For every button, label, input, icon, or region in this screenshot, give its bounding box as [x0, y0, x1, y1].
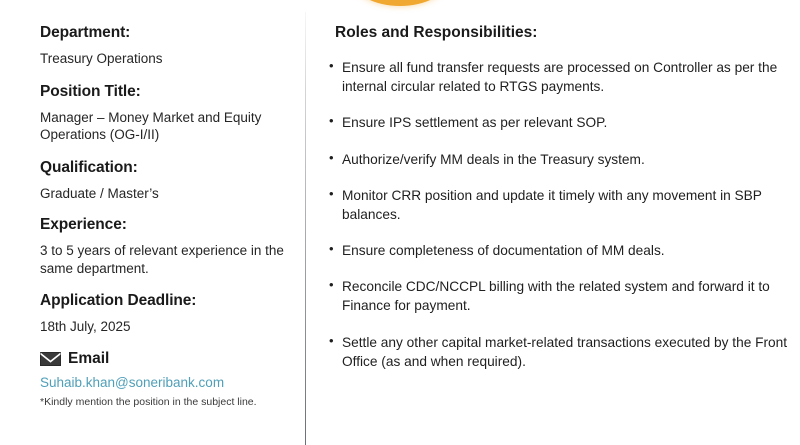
roles-responsibilities-column: Roles and Responsibilities: Ensure all f… [305, 0, 800, 388]
field-label-qualification: Qualification: [40, 159, 291, 177]
role-item: Ensure IPS settlement as per relevant SO… [329, 113, 794, 132]
field-label-department: Department: [40, 24, 291, 42]
field-experience: Experience: 3 to 5 years of relevant exp… [40, 216, 291, 277]
role-item: Settle any other capital market-related … [329, 333, 794, 371]
roles-list: Ensure all fund transfer requests are pr… [329, 58, 794, 371]
field-value-application-deadline: 18th July, 2025 [40, 318, 291, 336]
column-divider [305, 12, 306, 445]
role-item: Reconcile CDC/NCCPL billing with the rel… [329, 277, 794, 315]
field-value-department: Treasury Operations [40, 50, 291, 68]
email-heading-label: Email [68, 350, 109, 368]
field-label-experience: Experience: [40, 216, 291, 234]
field-value-experience: 3 to 5 years of relevant experience in t… [40, 242, 291, 277]
role-item: Ensure completeness of documentation of … [329, 241, 794, 260]
field-label-position-title: Position Title: [40, 83, 291, 101]
role-item: Ensure all fund transfer requests are pr… [329, 58, 794, 96]
field-value-position-title: Manager – Money Market and Equity Operat… [40, 109, 291, 144]
job-posting-page: Department: Treasury Operations Position… [0, 0, 800, 445]
email-subject-note: *Kindly mention the position in the subj… [40, 396, 291, 409]
field-position-title: Position Title: Manager – Money Market a… [40, 83, 291, 144]
envelope-icon [40, 352, 61, 366]
field-qualification: Qualification: Graduate / Master’s [40, 159, 291, 203]
job-details-column: Department: Treasury Operations Position… [0, 0, 305, 419]
role-item: Authorize/verify MM deals in the Treasur… [329, 150, 794, 169]
field-application-deadline: Application Deadline: 18th July, 2025 [40, 292, 291, 336]
email-address-link[interactable]: Suhaib.khan@soneribank.com [40, 375, 291, 392]
field-value-qualification: Graduate / Master’s [40, 185, 291, 203]
email-heading-row: Email [40, 350, 291, 368]
field-label-application-deadline: Application Deadline: [40, 292, 291, 310]
email-block: Email Suhaib.khan@soneribank.com *Kindly… [40, 350, 291, 408]
role-item: Monitor CRR position and update it timel… [329, 186, 794, 224]
field-department: Department: Treasury Operations [40, 24, 291, 68]
roles-heading: Roles and Responsibilities: [329, 24, 794, 42]
